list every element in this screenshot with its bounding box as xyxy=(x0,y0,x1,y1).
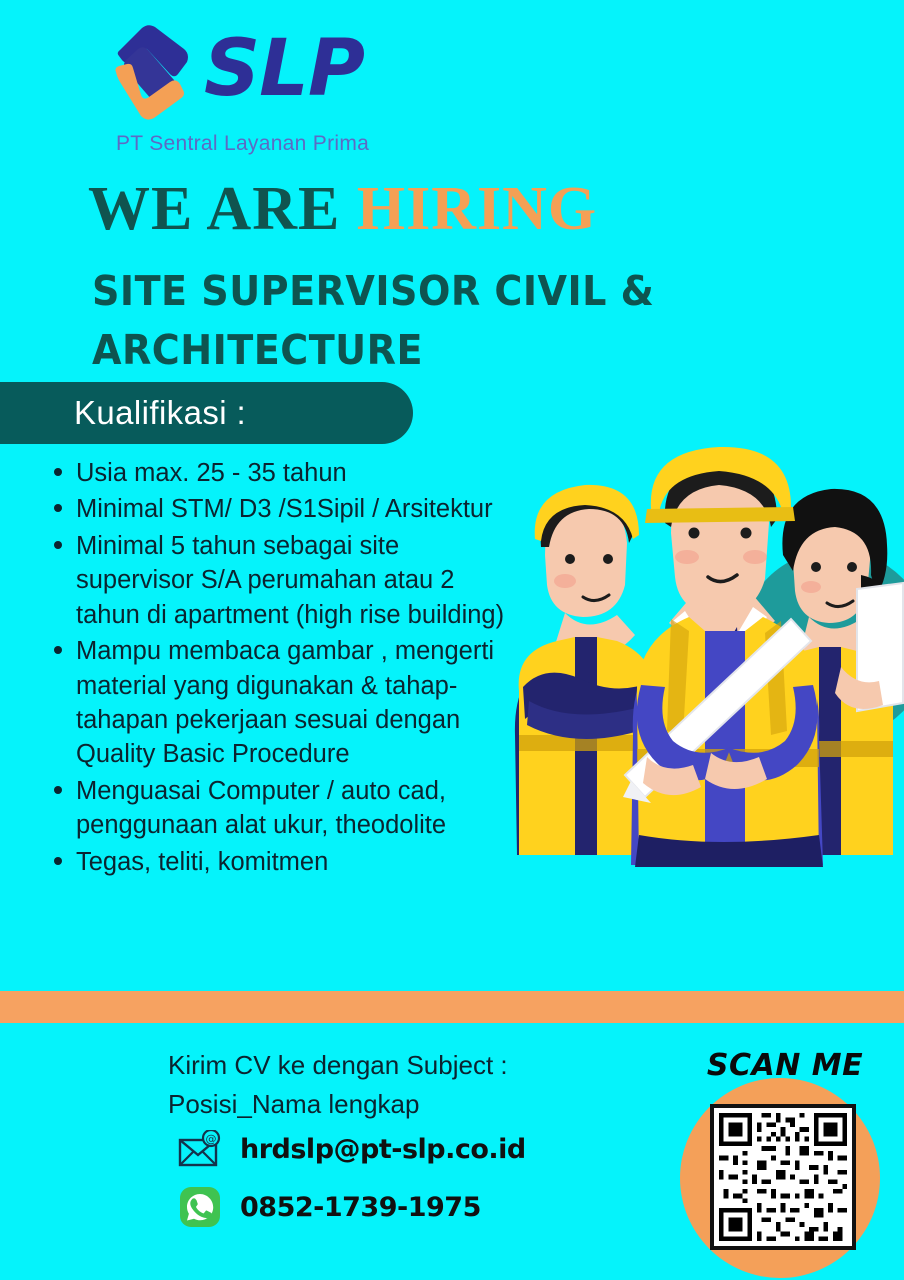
contact-email-text: hrdslp@pt-slp.co.id xyxy=(240,1134,526,1165)
scan-me-block[interactable]: SCAN ME xyxy=(672,1048,892,1263)
qualifications-list: Usia max. 25 - 35 tahun Minimal STM/ D3 … xyxy=(46,456,516,881)
contact-whatsapp-row[interactable]: 0852-1739-1975 xyxy=(178,1185,481,1229)
cv-instruction: Kirim CV ke dengan Subject : Posisi_Nama… xyxy=(168,1046,588,1124)
list-item: Minimal STM/ D3 /S1Sipil / Arsitektur xyxy=(46,492,516,526)
list-item: Tegas, teliti, komitmen xyxy=(46,845,516,879)
headline-we-are: WE ARE xyxy=(88,175,357,243)
headline-hiring: HIRING xyxy=(357,175,597,243)
whatsapp-icon xyxy=(178,1185,222,1229)
orange-divider xyxy=(0,991,904,1023)
qr-code[interactable] xyxy=(710,1104,856,1250)
logo-wordmark: SLP xyxy=(204,30,364,108)
worker-center xyxy=(623,447,823,867)
logo-company-name: PT Sentral Layanan Prima xyxy=(116,132,369,156)
qualifications-banner: Kualifikasi : xyxy=(0,382,413,444)
qualifications-banner-label: Kualifikasi : xyxy=(0,394,246,432)
job-title: SITE SUPERVISOR CIVIL & ARCHITECTURE xyxy=(92,262,724,381)
svg-text:@: @ xyxy=(206,1133,217,1146)
list-item: Mampu membaca gambar , mengerti material… xyxy=(46,634,516,772)
list-item: Minimal 5 tahun sebagai site supervisor … xyxy=(46,529,516,632)
contact-phone-text: 0852-1739-1975 xyxy=(240,1192,481,1223)
slp-logo-mark xyxy=(108,22,208,122)
three-construction-workers-illustration xyxy=(505,435,904,880)
list-item: Usia max. 25 - 35 tahun xyxy=(46,456,516,490)
contact-email-row[interactable]: @ hrdslp@pt-slp.co.id xyxy=(178,1130,526,1168)
list-item: Menguasai Computer / auto cad, penggunaa… xyxy=(46,774,516,843)
envelope-at-icon: @ xyxy=(178,1130,222,1168)
company-logo: SLP PT Sentral Layanan Prima xyxy=(108,22,528,152)
headline: WE ARE HIRING xyxy=(88,178,597,240)
